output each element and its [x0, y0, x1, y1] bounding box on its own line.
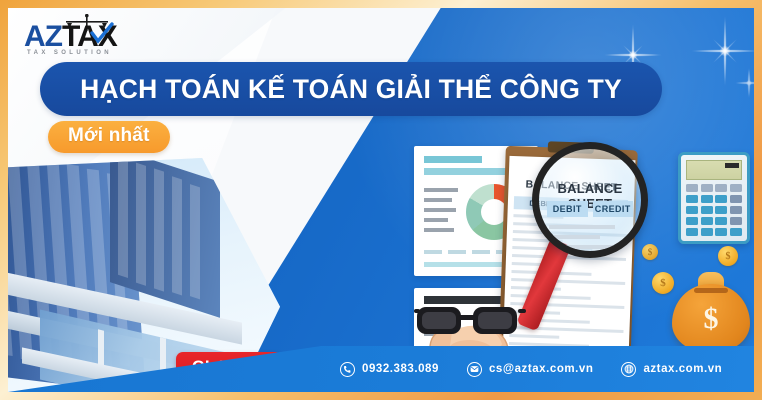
phone-icon: [340, 362, 355, 377]
money-bag-icon: $: [668, 266, 754, 354]
contact-website[interactable]: aztax.com.vn: [621, 362, 722, 377]
contact-footer: 0932.383.089 cs@aztax.com.vn: [8, 346, 754, 392]
contact-website-value: aztax.com.vn: [643, 363, 722, 375]
email-icon: [467, 362, 482, 377]
banner-image: CLOSED: [0, 0, 762, 400]
money-bag-symbol: $: [668, 304, 754, 334]
calculator-icon: [678, 152, 750, 244]
sparkle-star-icon: [732, 66, 754, 100]
globe-icon: [621, 362, 636, 377]
aztax-logo[interactable]: AZTAX TAX SOLUTION: [24, 12, 152, 64]
magnifying-glass-icon: BALANCE SHEET DEBIT CREDIT: [514, 138, 664, 308]
status-badge-label: Mới nhất: [68, 125, 150, 146]
magnifier-lens: BALANCE SHEET DEBIT CREDIT: [532, 142, 648, 258]
contact-phone-value: 0932.383.089: [362, 363, 439, 375]
page-title-text: HẠCH TOÁN KẾ TOÁN GIẢI THỂ CÔNG TY: [80, 74, 622, 105]
contact-email[interactable]: cs@aztax.com.vn: [467, 362, 593, 377]
eyeglasses-icon: [414, 298, 526, 342]
page-title: HẠCH TOÁN KẾ TOÁN GIẢI THỂ CÔNG TY: [40, 62, 662, 116]
magnified-col-debit: DEBIT: [547, 201, 588, 217]
contact-phone[interactable]: 0932.383.089: [340, 362, 439, 377]
banner-stage: CLOSED: [8, 8, 754, 392]
check-mark-icon: [90, 22, 114, 46]
status-badge: Mới nhất: [48, 121, 170, 153]
coin-icon: $: [718, 246, 738, 266]
magnified-col-credit: CREDIT: [593, 201, 634, 217]
logo-text-primary: AZ: [24, 20, 62, 53]
logo-tagline: TAX SOLUTION: [27, 50, 112, 56]
contact-email-value: cs@aztax.com.vn: [489, 363, 593, 375]
